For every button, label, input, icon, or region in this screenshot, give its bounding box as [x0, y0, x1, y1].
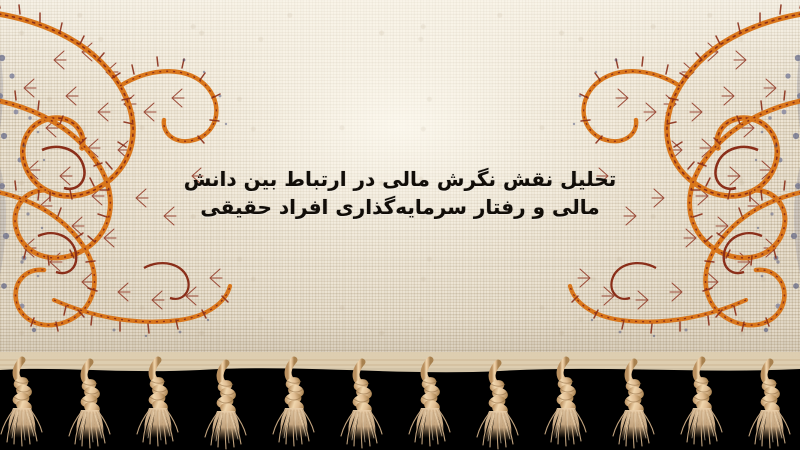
page-title: تحلیل نقش نگرش مالی در ارتباط بین دانش م… [0, 166, 800, 221]
title-card-canvas: تحلیل نقش نگرش مالی در ارتباط بین دانش م… [0, 0, 800, 450]
knotted-tassel-fringe [0, 352, 800, 450]
title-line-1: تحلیل نقش نگرش مالی در ارتباط بین دانش [0, 166, 800, 194]
title-line-2: مالی و رفتار سرمایه‌گذاری افراد حقیقی [0, 194, 800, 222]
